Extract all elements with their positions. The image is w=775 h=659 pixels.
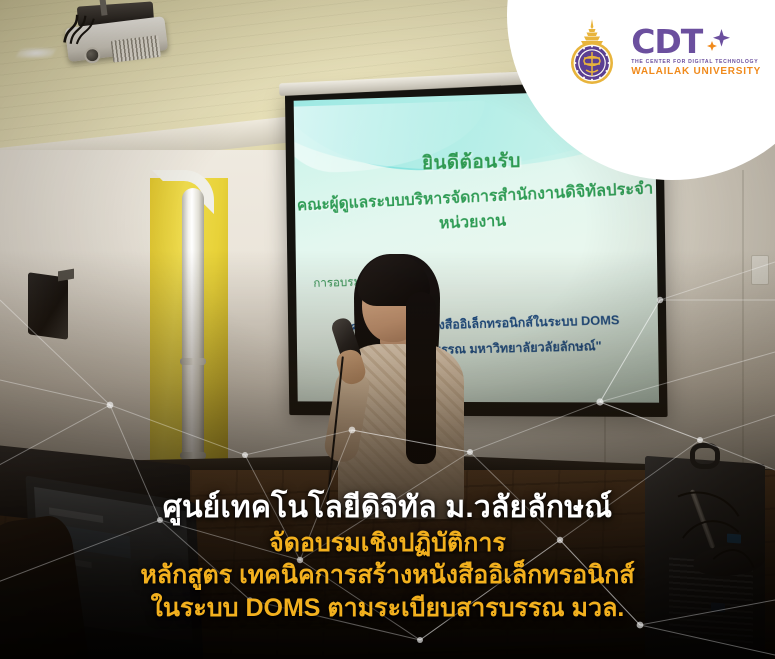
sparkle-icon: [704, 27, 730, 57]
brand-acronym: CDT: [631, 27, 702, 57]
walailak-crest-icon: [562, 18, 622, 86]
headline-block: ศูนย์เทคโนโลยีดิจิทัล ม.วลัยลักษณ์ จัดอบ…: [0, 490, 775, 623]
brand-acronym-row: CDT: [631, 27, 761, 57]
poster-canvas: ยินดีต้อนรับ คณะผู้ดูแลระบบบริหารจัดการส…: [0, 0, 775, 659]
brand-university: WALAILAK UNIVERSITY: [631, 66, 761, 77]
brand-tagline: THE CENTER FOR DIGITAL TECHNOLOGY: [631, 59, 761, 65]
headline-line-2: จัดอบรมเชิงปฏิบัติการ: [0, 529, 775, 559]
brand-logo: CDT THE CENTER FOR DIGITAL TECHNOLOGY WA…: [562, 18, 761, 86]
headline-line-1: ศูนย์เทคโนโลยีดิจิทัล ม.วลัยลักษณ์: [0, 490, 775, 525]
headline-line-3: หลักสูตร เทคนิคการสร้างหนังสืออิเล็กทรอน…: [0, 561, 775, 591]
headline-line-4: ในระบบ DOMS ตามระเบียบสารบรรณ มวล.: [0, 594, 775, 624]
brand-wordmark: CDT THE CENTER FOR DIGITAL TECHNOLOGY WA…: [631, 27, 761, 77]
